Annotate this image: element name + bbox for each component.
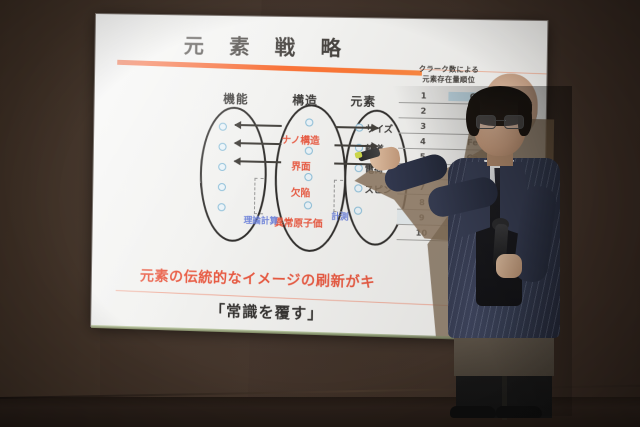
structure-term-anomalous-valence: 異常原子価	[274, 215, 323, 230]
structure-term-interface: 界面	[291, 158, 311, 173]
presenter-hand-left	[496, 254, 522, 278]
annotation-theoretical-calculation: 理論計算	[244, 214, 279, 227]
table-caption-line2: 元素存在量順位	[399, 74, 498, 86]
glasses-lens-left	[476, 115, 496, 129]
node-dot	[305, 147, 313, 155]
node-dot	[218, 183, 226, 191]
presenter-shoe-left	[450, 406, 496, 418]
glasses-icon	[476, 115, 524, 127]
group-label-function: 機能	[223, 90, 249, 107]
brace-measurement	[333, 180, 343, 213]
node-dot	[355, 164, 363, 172]
slide-title: 元 素 戦 略	[184, 29, 351, 61]
structure-term-defect: 欠陥	[291, 185, 311, 200]
glasses-lens-right	[504, 115, 524, 129]
node-dot	[218, 163, 226, 171]
node-dot	[217, 203, 225, 211]
element-term-size: サイズ	[365, 122, 393, 136]
node-dot	[354, 207, 362, 215]
annotation-measurement: 計測	[331, 210, 349, 223]
node-dot	[219, 123, 227, 131]
node-dot	[304, 201, 312, 209]
presentation-photo-scene: 元 素 戦 略 機能 構造 元素 ナノ構造	[0, 0, 640, 427]
node-dot	[305, 118, 313, 126]
presenter	[392, 86, 572, 416]
title-underline-accent	[117, 60, 422, 76]
node-dot	[218, 143, 226, 151]
structure-term-nanostructure: ナノ構造	[281, 132, 319, 147]
slide-message-dark: 「常識を覆す」	[210, 299, 324, 324]
slide-message-red: 元素の伝統的なイメージの刷新がキ	[140, 265, 375, 292]
group-label-element: 元素	[350, 93, 376, 110]
node-dot	[354, 184, 362, 192]
presenter-shoe-right	[496, 406, 542, 418]
node-dot	[304, 173, 312, 181]
brace-theory	[254, 178, 264, 215]
